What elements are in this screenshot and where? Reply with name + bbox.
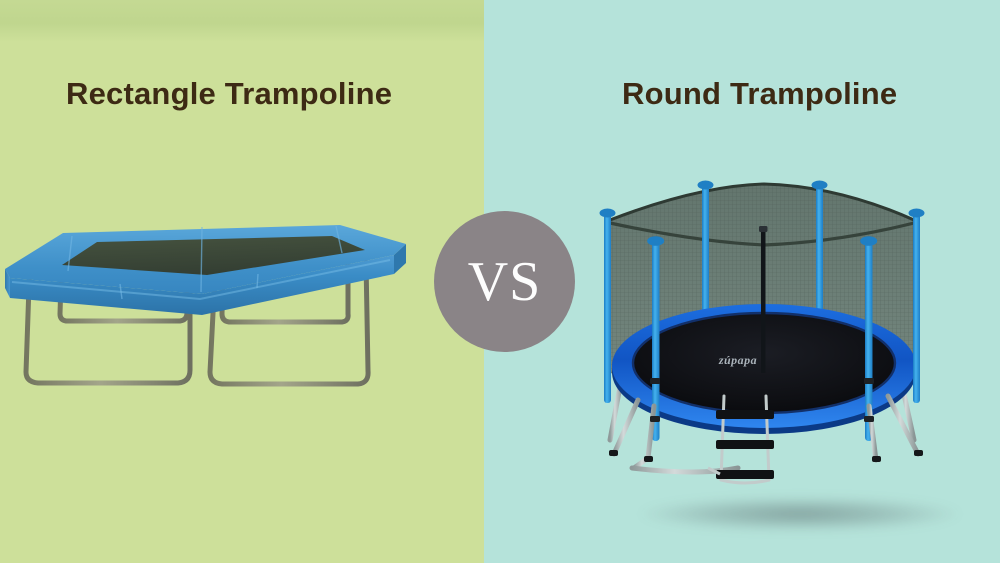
left-product-title: Rectangle Trampoline xyxy=(66,76,392,112)
ladder-step xyxy=(716,470,774,479)
right-product-title: Round Trampoline xyxy=(622,76,897,112)
round-trampoline-image: zúpapa xyxy=(588,168,936,508)
ladder-step xyxy=(716,440,774,449)
versus-badge: VS xyxy=(434,211,575,352)
ladder-step xyxy=(716,410,774,419)
versus-label: VS xyxy=(468,254,542,310)
round-trampoline-brand-logo: zúpapa xyxy=(718,353,757,367)
top-gradient-band xyxy=(0,0,484,42)
comparison-graphic: zúpapa xyxy=(0,0,1000,563)
rectangle-trampoline-image xyxy=(2,222,422,452)
